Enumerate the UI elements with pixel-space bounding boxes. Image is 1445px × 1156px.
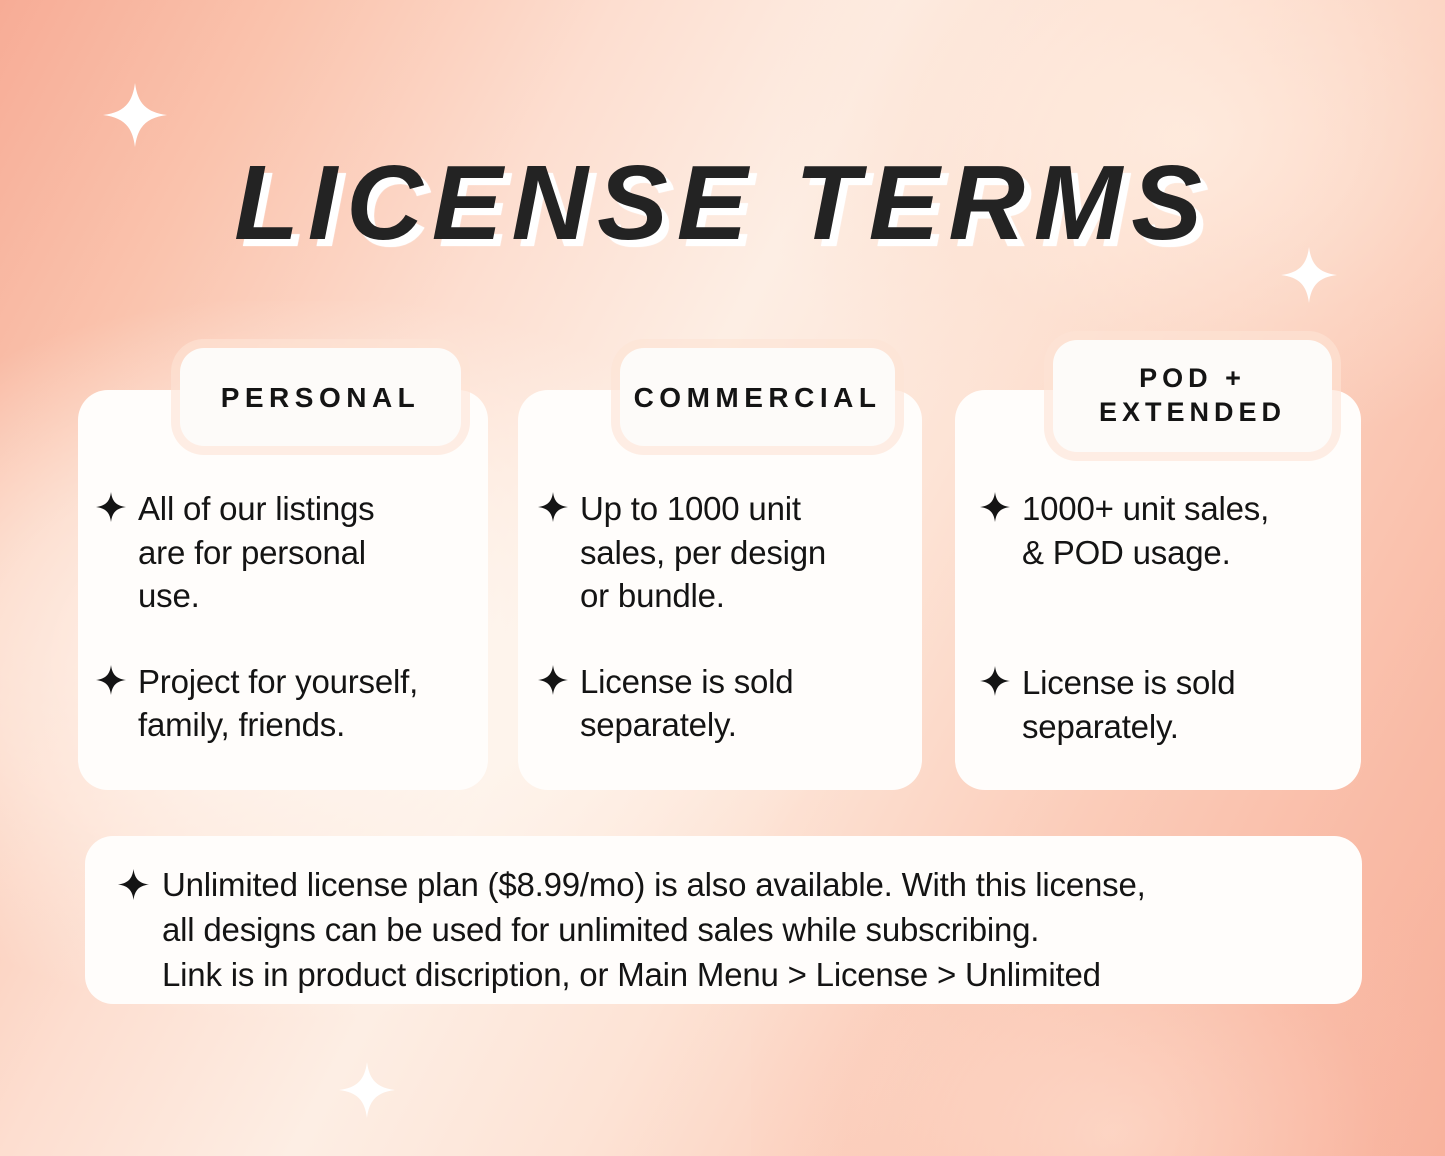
- card-header-personal: PERSONAL: [180, 348, 461, 446]
- list-item-text: Up to 1000 unit sales, per design or bun…: [580, 487, 826, 618]
- card-header-label: COMMERCIAL: [634, 380, 882, 415]
- four-point-sparkle-icon: [980, 492, 1010, 522]
- card-body-commercial: Up to 1000 unit sales, per design or bun…: [538, 487, 924, 747]
- card-body-personal: All of our listings are for personal use…: [96, 487, 482, 747]
- list-item: All of our listings are for personal use…: [96, 487, 482, 618]
- four-point-sparkle-icon: [96, 665, 126, 695]
- four-point-sparkle-icon: [96, 492, 126, 522]
- card-header-line-2: EXTENDED: [1099, 397, 1286, 427]
- card-header-commercial: COMMERCIAL: [620, 348, 895, 446]
- card-header-line-1: POD +: [1139, 363, 1246, 393]
- four-point-sparkle-icon: [980, 666, 1010, 696]
- four-point-sparkle-icon: [538, 492, 568, 522]
- list-item-text: Project for yourself, family, friends.: [138, 660, 418, 747]
- list-item: License is sold separately.: [538, 660, 924, 747]
- list-item-text: 1000+ unit sales, & POD usage.: [1022, 487, 1269, 574]
- list-item: License is sold separately.: [980, 661, 1366, 748]
- four-point-sparkle-icon: [103, 83, 167, 147]
- card-header-pod-extended: POD + EXTENDED: [1053, 340, 1332, 452]
- list-item: Project for yourself, family, friends.: [96, 660, 482, 747]
- unlimited-plan-banner-content: Unlimited license plan ($8.99/mo) is als…: [118, 863, 1348, 998]
- list-item-text: All of our listings are for personal use…: [138, 487, 374, 618]
- list-item: 1000+ unit sales, & POD usage.: [980, 487, 1366, 574]
- license-terms-graphic: LICENSE TERMS PERSONAL COMMERCIAL POD + …: [0, 0, 1445, 1156]
- card-header-label: POD + EXTENDED: [1099, 362, 1286, 430]
- list-item: Up to 1000 unit sales, per design or bun…: [538, 487, 924, 618]
- card-header-label: PERSONAL: [221, 380, 421, 415]
- list-item-text: License is sold separately.: [580, 660, 793, 747]
- four-point-sparkle-icon: [538, 665, 568, 695]
- card-body-pod-extended: 1000+ unit sales, & POD usage. License i…: [980, 487, 1366, 748]
- unlimited-plan-text: Unlimited license plan ($8.99/mo) is als…: [162, 863, 1146, 998]
- spacer: [980, 616, 1366, 661]
- page-title: LICENSE TERMS: [0, 146, 1445, 260]
- four-point-sparkle-icon: [118, 869, 149, 900]
- four-point-sparkle-icon: [339, 1062, 395, 1118]
- list-item-text: License is sold separately.: [1022, 661, 1235, 748]
